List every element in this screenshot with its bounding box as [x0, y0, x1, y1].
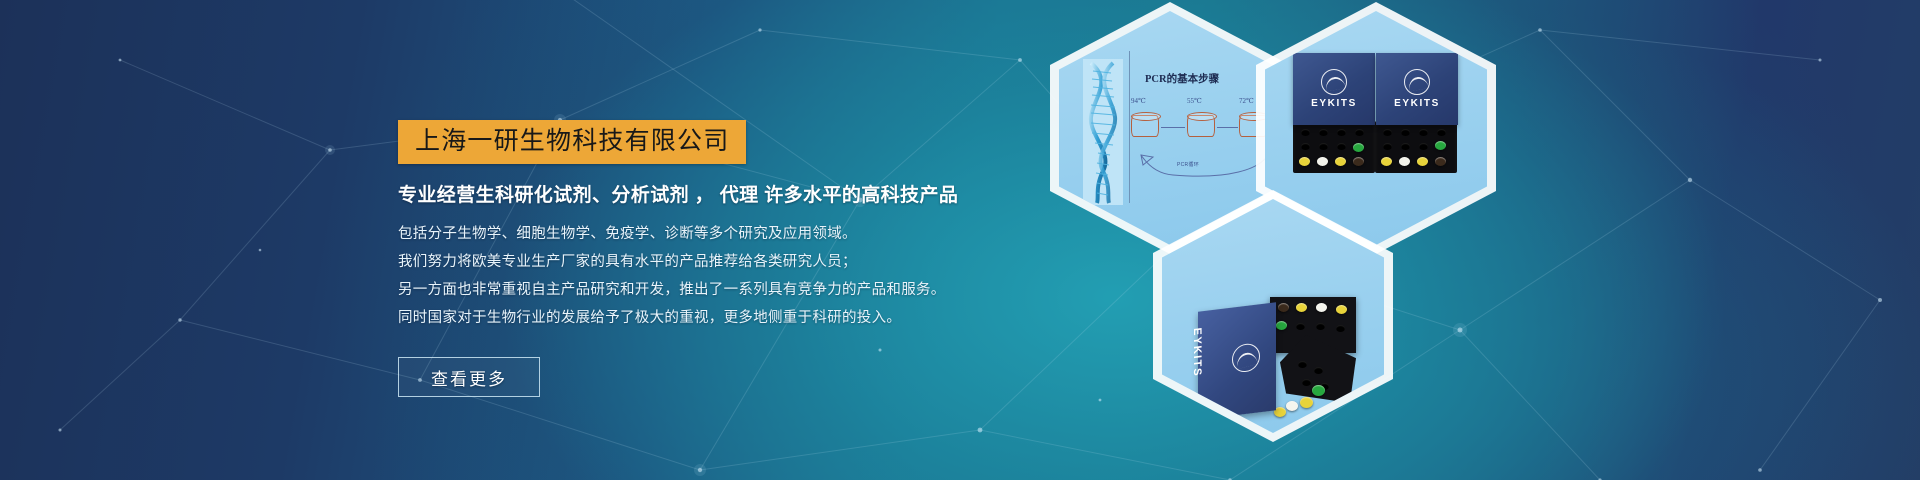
- hero-subtitle: 专业经营生科研化试剂、分析试剂 ， 代理 许多水平的高科技产品: [398, 180, 958, 207]
- kit-brand-label-vertical: EYKITS: [1191, 327, 1203, 378]
- vial-brown: [1278, 303, 1289, 312]
- paragraph-line-3: 另一方面也非常重视自主产品研究和开发，推出了一系列具有竞争力的产品和服务。: [398, 276, 958, 304]
- vial-yellow: [1336, 305, 1347, 314]
- vial-yellow: [1335, 157, 1346, 166]
- kit-brand-label: EYKITS: [1311, 98, 1357, 109]
- vial-yellow: [1381, 157, 1392, 166]
- vial-white: [1286, 401, 1298, 411]
- pcr-cycle-label: PCR循环: [1177, 161, 1199, 168]
- kit-brand-label: EYKITS: [1394, 98, 1440, 109]
- pcr-diagram-title: PCR的基本步骤: [1145, 71, 1219, 86]
- vial-white: [1399, 157, 1410, 166]
- vial-green: [1312, 385, 1325, 396]
- pcr-tube-1: [1131, 115, 1159, 137]
- vial-white: [1317, 157, 1328, 166]
- vial-white: [1316, 303, 1327, 312]
- vial-green: [1435, 141, 1446, 150]
- hero-text-block: 上海一研生物科技有限公司 专业经营生科研化试剂、分析试剂 ， 代理 许多水平的高…: [0, 0, 980, 480]
- hero-banner: 上海一研生物科技有限公司 专业经营生科研化试剂、分析试剂 ， 代理 许多水平的高…: [0, 0, 1920, 480]
- vial-brown: [1435, 157, 1446, 166]
- kit-box-right: EYKITS: [1376, 53, 1458, 125]
- vial-yellow: [1296, 303, 1307, 312]
- kit-box-left: EYKITS: [1293, 53, 1375, 125]
- paragraph-line-1: 包括分子生物学、细胞生物学、免疫学、诊断等多个研究及应用领域。: [398, 220, 958, 248]
- pcr-temp-2: 55℃: [1187, 97, 1202, 105]
- company-title-badge: 上海一研生物科技有限公司: [398, 120, 746, 164]
- eykits-logo-icon: [1232, 342, 1260, 373]
- vial-yellow: [1300, 397, 1313, 408]
- kit-box-open: EYKITS: [1198, 302, 1276, 420]
- hexagon-image-cluster: PCR的基本步骤 94℃ 55℃ 72℃ PCR循环: [1030, 0, 1590, 480]
- vial-yellow: [1417, 157, 1428, 166]
- vial-green: [1276, 321, 1287, 330]
- eykits-logo-icon: [1321, 69, 1347, 95]
- view-more-button[interactable]: 查看更多: [398, 357, 540, 397]
- hero-paragraph: 包括分子生物学、细胞生物学、免疫学、诊断等多个研究及应用领域。 我们努力将欧美专…: [398, 220, 958, 332]
- pcr-temp-3: 72℃: [1239, 97, 1254, 105]
- page-title: 上海一研生物科技有限公司: [415, 127, 729, 155]
- hexagon-open-kit-inner: EYKITS: [1162, 199, 1384, 433]
- pcr-arrow-2: [1217, 127, 1238, 128]
- vial-yellow: [1299, 157, 1310, 166]
- pcr-arrow-1: [1161, 127, 1185, 128]
- view-more-label: 查看更多: [431, 365, 507, 390]
- foam-rack-left: [1293, 121, 1375, 173]
- foam-rack-right: [1375, 121, 1457, 173]
- vial-green: [1353, 143, 1364, 152]
- eykits-logo-icon: [1404, 69, 1430, 95]
- dna-helix-icon: [1083, 59, 1123, 205]
- paragraph-line-2: 我们努力将欧美专业生产厂家的具有水平的产品推荐给各类研究人员；: [398, 248, 958, 276]
- paragraph-line-4: 同时国家对于生物行业的发展给予了极大的重视，更多地侧重于科研的投入。: [398, 304, 958, 332]
- vial-brown: [1353, 157, 1364, 166]
- open-kit-photo: EYKITS: [1162, 199, 1384, 433]
- pcr-tube-2: [1187, 115, 1215, 137]
- pcr-temp-1: 94℃: [1131, 97, 1146, 105]
